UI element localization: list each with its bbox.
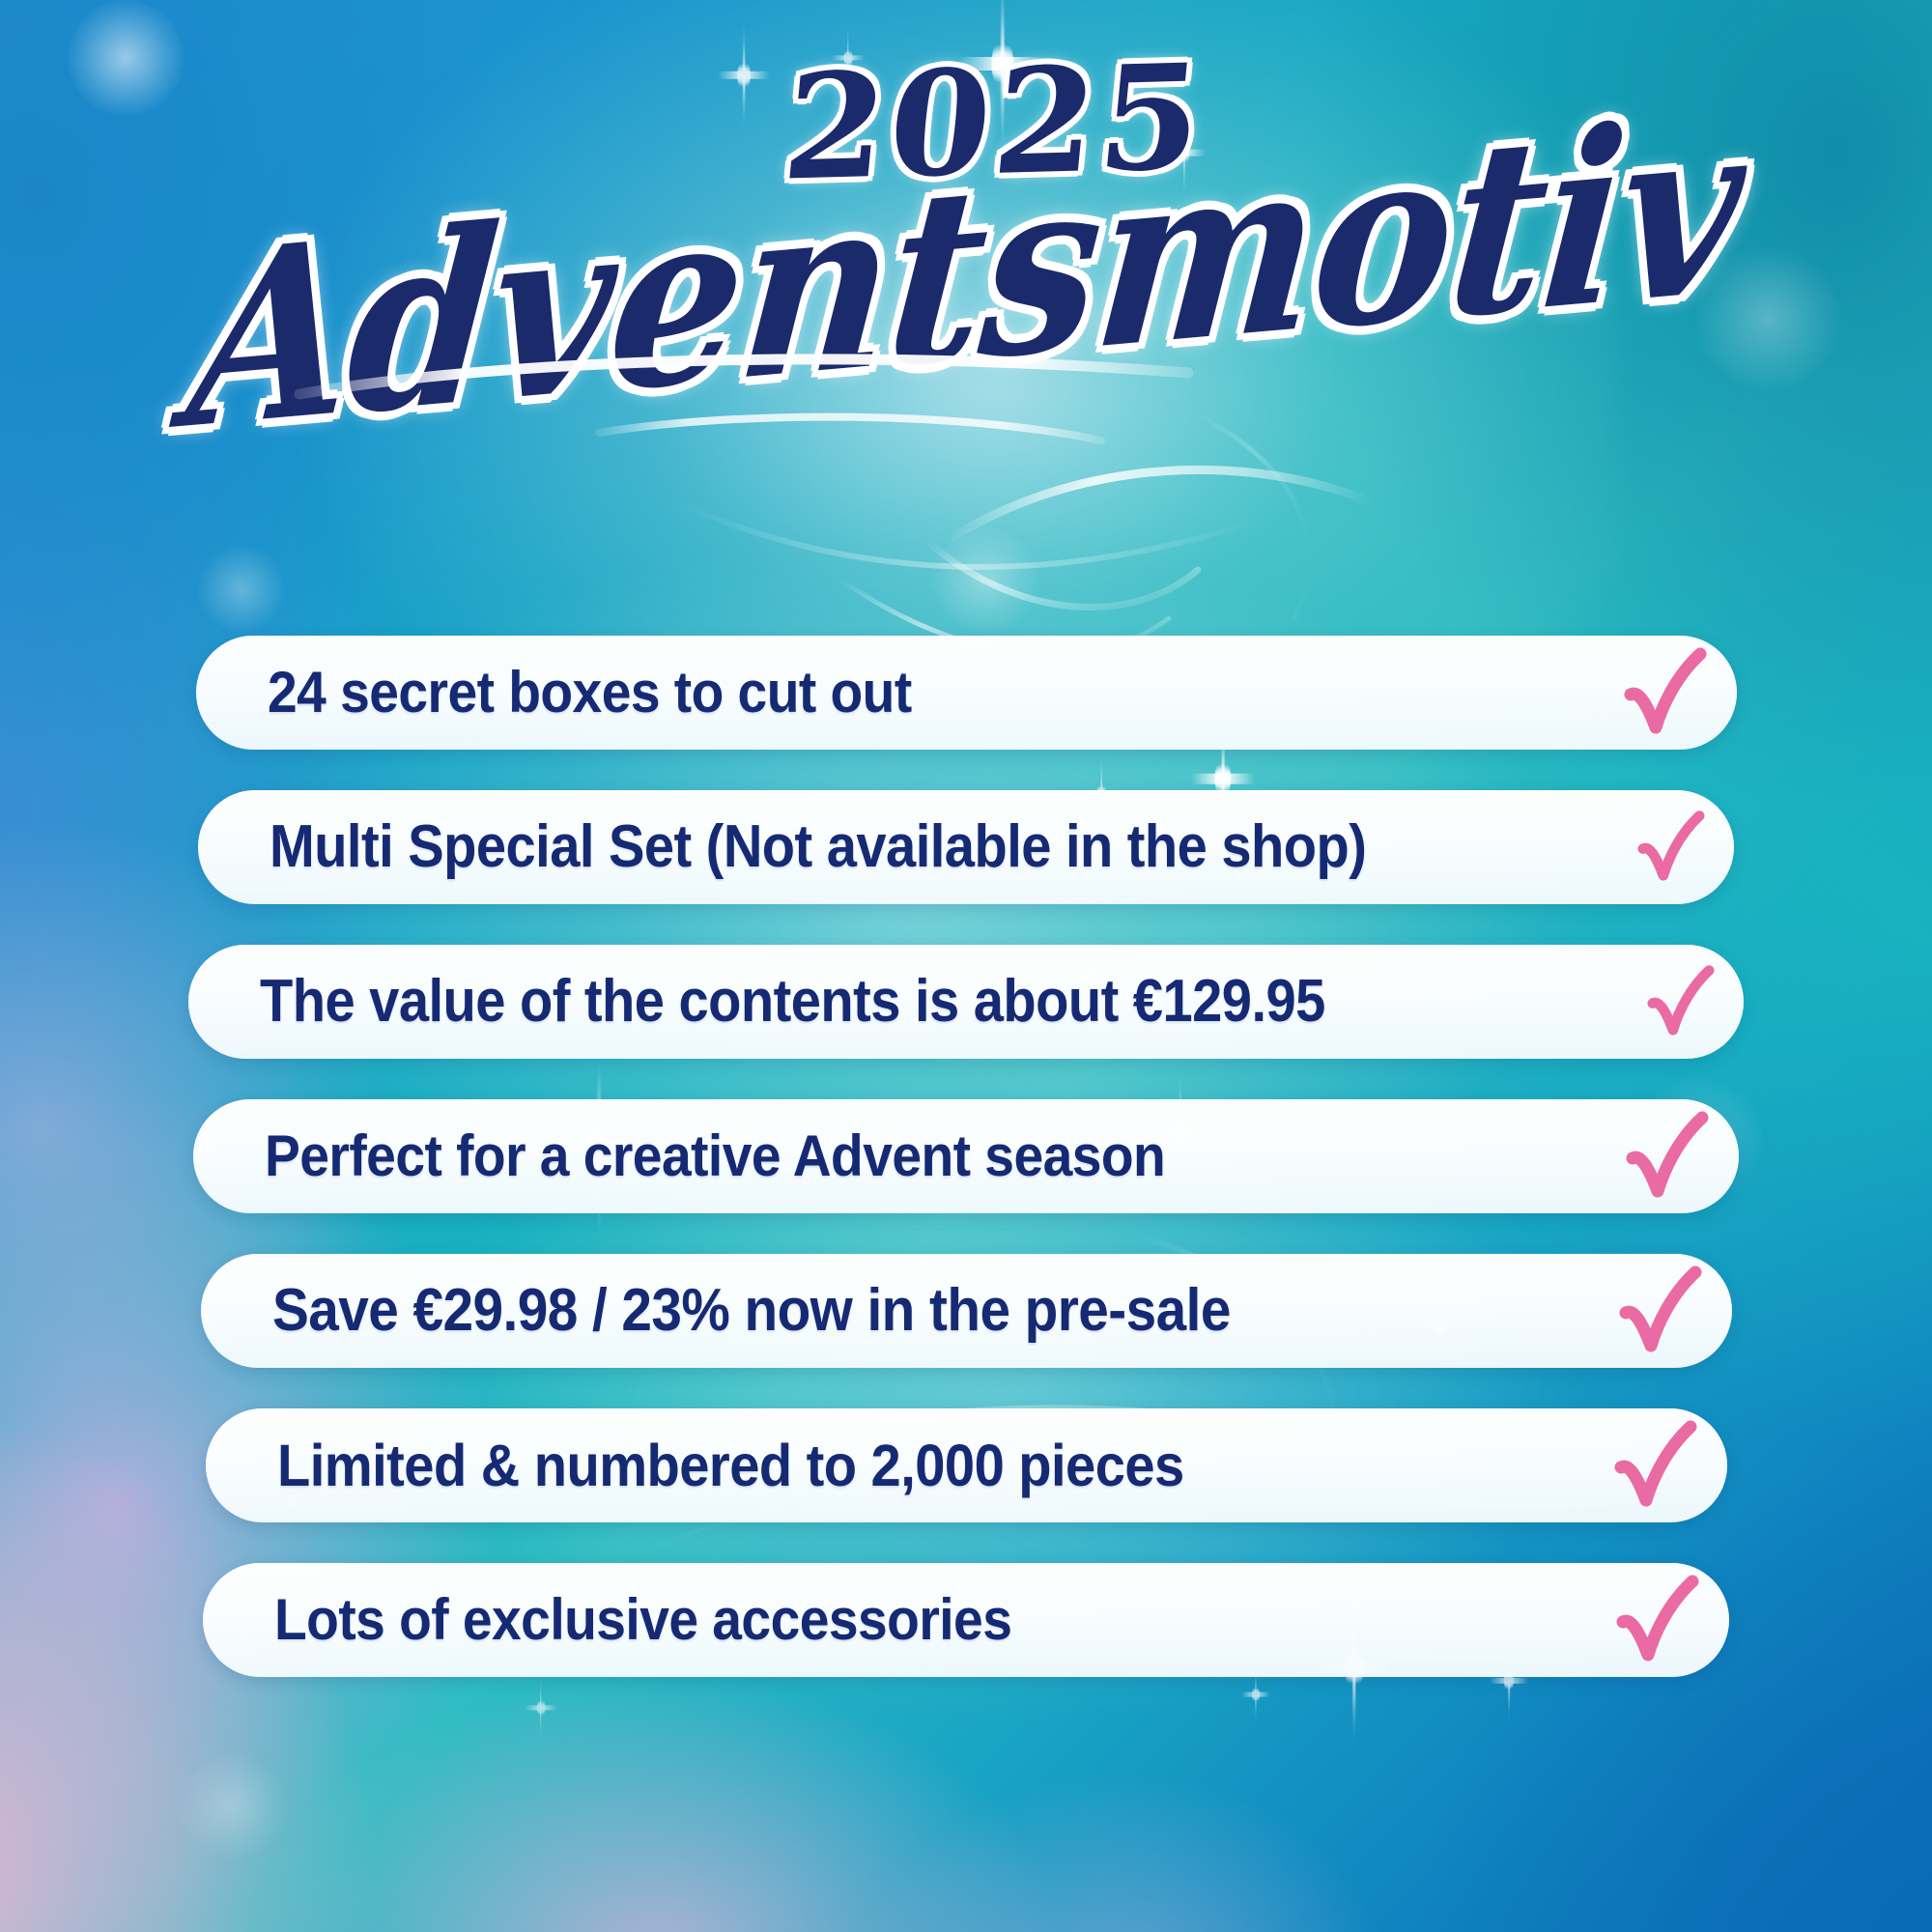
feature-row[interactable]: Save €29.98 / 23% now in the pre-sale xyxy=(201,1254,1732,1368)
feature-row[interactable]: Multi Special Set (Not available in the … xyxy=(198,790,1734,904)
bokeh-light xyxy=(68,0,184,116)
feature-row[interactable]: The value of the contents is about €129.… xyxy=(188,945,1744,1059)
feature-row[interactable]: 24 secret boxes to cut out xyxy=(196,636,1737,750)
sparkle-icon xyxy=(832,21,865,95)
feature-label: The value of the contents is about €129.… xyxy=(260,972,1510,1032)
check-icon xyxy=(1614,1261,1707,1361)
sparkle-icon xyxy=(718,17,770,133)
bokeh-light xyxy=(1695,246,1840,391)
bokeh-light xyxy=(198,546,285,633)
check-icon xyxy=(1609,1415,1702,1516)
feature-label: Lots of exclusive accessories xyxy=(274,1591,1491,1649)
bokeh-light xyxy=(932,526,1038,633)
check-icon xyxy=(1643,952,1719,1052)
check-icon xyxy=(1634,797,1709,897)
bokeh-light xyxy=(179,1753,285,1860)
check-icon xyxy=(1621,1106,1714,1207)
feature-row[interactable]: Perfect for a creative Advent season xyxy=(193,1099,1739,1213)
feature-label: Save €29.98 / 23% now in the pre-sale xyxy=(272,1281,1486,1341)
feature-row[interactable]: Limited & numbered to 2,000 pieces xyxy=(206,1408,1727,1522)
feature-label: Limited & numbered to 2,000 pieces xyxy=(277,1436,1489,1495)
check-icon xyxy=(1611,1570,1704,1670)
feature-label: Multi Special Set (Not available in the … xyxy=(270,817,1500,877)
advent-promo-poster: 2025 Adventsmotiv 24 secret boxes to cut… xyxy=(0,0,1932,1932)
sparkle-icon xyxy=(1163,106,1206,199)
check-icon xyxy=(1619,642,1712,743)
feature-label: Perfect for a creative Advent season xyxy=(265,1127,1498,1185)
feature-row[interactable]: Lots of exclusive accessories xyxy=(203,1563,1729,1677)
feature-label: 24 secret boxes to cut out xyxy=(268,664,1496,722)
feature-list: 24 secret boxes to cut out Multi Special… xyxy=(0,636,1932,1718)
sparkle-icon xyxy=(959,0,1046,160)
